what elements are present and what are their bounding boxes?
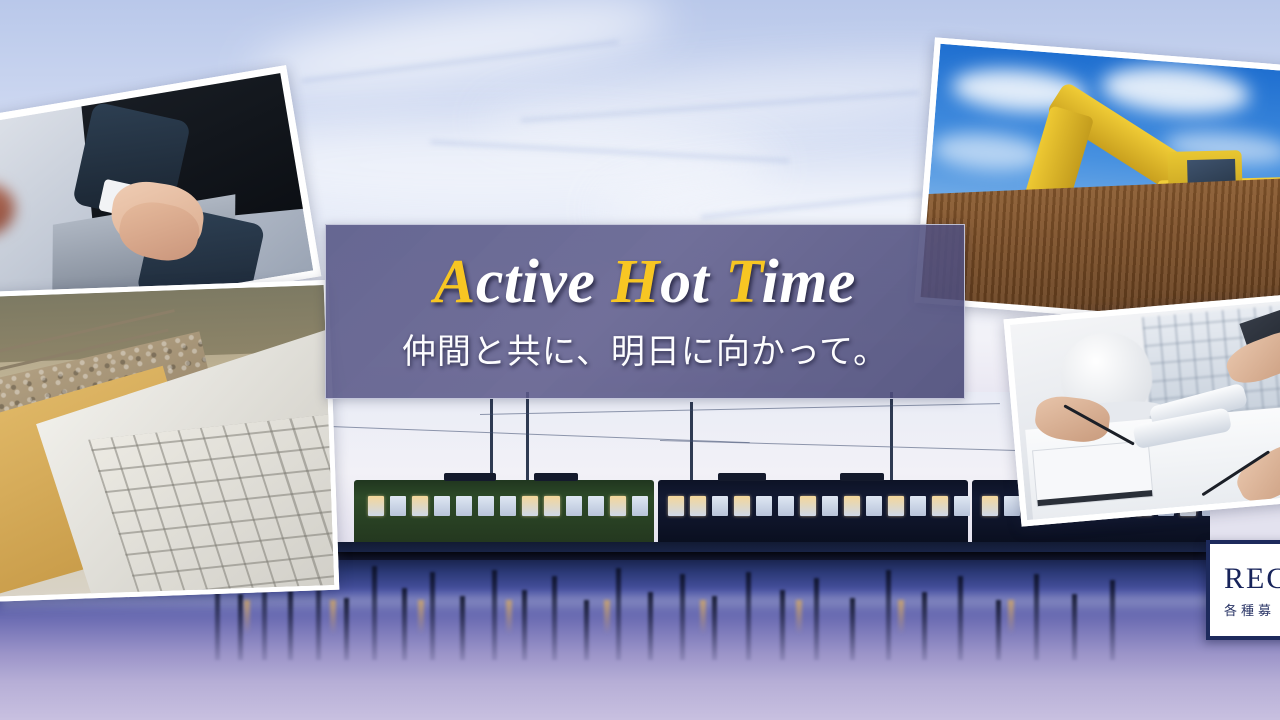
hero-title-banner: Active Hot Time 仲間と共に、明日に向かって。 [325, 224, 965, 399]
title-word-hot: ot [660, 248, 709, 316]
title-initial-t: T [725, 248, 761, 316]
architects-blueprint-photo [1004, 293, 1280, 526]
title-word-time: ime [761, 248, 855, 316]
title-initial-a: A [434, 248, 476, 316]
railway-retaining-wall-photo [0, 280, 339, 602]
excavator-photo [914, 37, 1280, 332]
recruit-badge[interactable]: REC 各種募 [1206, 540, 1280, 640]
page-title: Active Hot Time [434, 250, 856, 315]
train-car-dark [658, 480, 968, 542]
page-subtitle: 仲間と共に、明日に向かって。 [402, 324, 888, 373]
water-sheen [0, 596, 1280, 612]
roof-vent [718, 473, 766, 481]
recruit-badge-title: REC [1224, 562, 1280, 595]
roof-vent [534, 473, 578, 481]
recruit-badge-subtitle: 各種募 [1224, 600, 1275, 619]
train-car-green [354, 480, 654, 542]
title-word-active: ctive [476, 248, 596, 316]
roof-vent [444, 473, 496, 481]
roof-vent [840, 473, 884, 481]
title-initial-h: H [611, 248, 660, 316]
hero-banner-stage: Active Hot Time 仲間と共に、明日に向かって。 REC 各種募 [0, 0, 1280, 720]
